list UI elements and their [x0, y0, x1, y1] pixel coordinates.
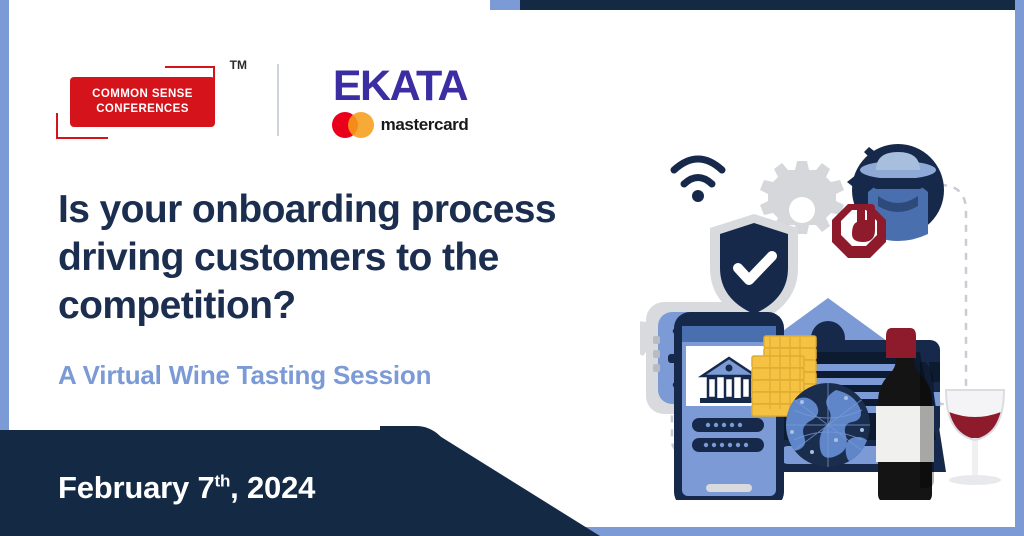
page-title: Is your onboarding process driving custo…	[58, 186, 658, 330]
bottom-accent-stripe	[560, 527, 1024, 536]
mastercard-wordmark: mastercard	[381, 115, 469, 135]
date-band-corner	[380, 426, 450, 460]
stop-hand-sign-icon	[832, 204, 886, 258]
mastercard-lockup: mastercard	[313, 112, 488, 138]
logo-line-2: CONFERENCES	[96, 102, 189, 117]
logo-divider	[277, 64, 279, 136]
logo-red-box: COMMON SENSE CONFERENCES	[70, 77, 215, 127]
illustration	[640, 140, 1020, 500]
event-date: February 7th, 2024	[58, 470, 315, 506]
wifi-icon	[674, 159, 722, 184]
wifi-dot-icon	[692, 190, 704, 202]
mastercard-circles-icon	[332, 112, 374, 138]
event-date-year: , 2024	[230, 470, 315, 505]
promo-banner: COMMON SENSE CONFERENCES TM EKATA master…	[0, 0, 1024, 536]
left-accent-stripe	[0, 0, 9, 432]
event-date-ordinal: th	[215, 472, 231, 491]
logo-line-1: COMMON SENSE	[92, 87, 193, 102]
ekata-logo[interactable]: EKATA mastercard	[313, 63, 488, 138]
logo-row: COMMON SENSE CONFERENCES TM EKATA master…	[48, 58, 488, 142]
top-navy-stripe	[520, 0, 1024, 10]
username-field	[692, 418, 764, 432]
ekata-wordmark: EKATA	[313, 63, 488, 109]
wine-glass-icon	[946, 390, 1004, 485]
page-subtitle: A Virtual Wine Tasting Session	[58, 360, 431, 391]
common-sense-conferences-logo[interactable]: COMMON SENSE CONFERENCES TM	[48, 58, 233, 142]
trademark-mark: TM	[230, 58, 247, 72]
top-accent-stripe	[490, 0, 522, 10]
event-date-day: February 7	[58, 470, 215, 505]
